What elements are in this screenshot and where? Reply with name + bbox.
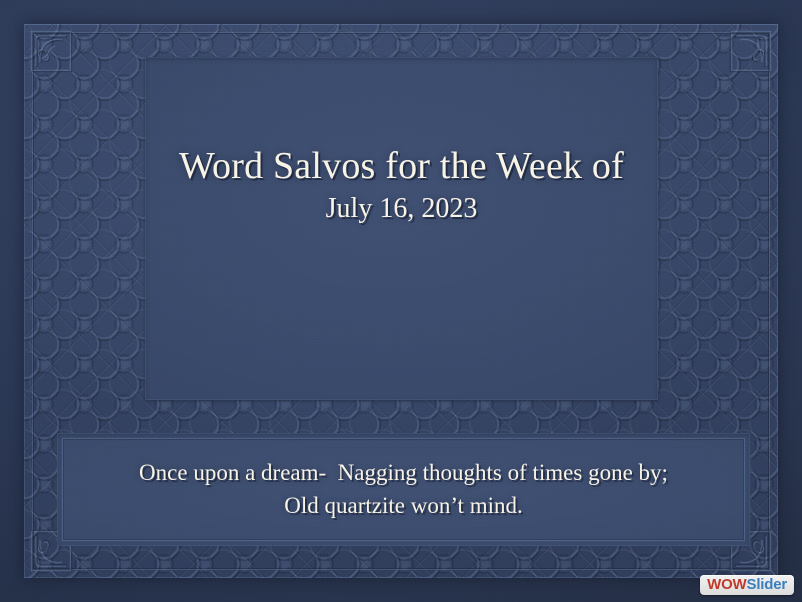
caption-line-2: Old quartzite won’t mind. [284, 490, 522, 523]
slide-canvas: Word Salvos for the Week of July 16, 202… [0, 0, 802, 602]
caption-panel-content: Once upon a dream- Nagging thoughts of t… [57, 433, 750, 546]
title-panel: Word Salvos for the Week of July 16, 202… [145, 57, 658, 400]
wowslider-watermark[interactable]: WOWSlider [700, 575, 794, 595]
slide-title-line-2: July 16, 2023 [326, 192, 478, 226]
watermark-brand-secondary: Slider [747, 577, 787, 592]
slide-title-line-1: Word Salvos for the Week of [179, 145, 624, 188]
watermark-brand-primary: WOW [707, 577, 746, 592]
caption-panel: Once upon a dream- Nagging thoughts of t… [57, 433, 750, 546]
title-panel-content: Word Salvos for the Week of July 16, 202… [145, 57, 658, 400]
caption-line-1: Once upon a dream- Nagging thoughts of t… [139, 457, 668, 490]
